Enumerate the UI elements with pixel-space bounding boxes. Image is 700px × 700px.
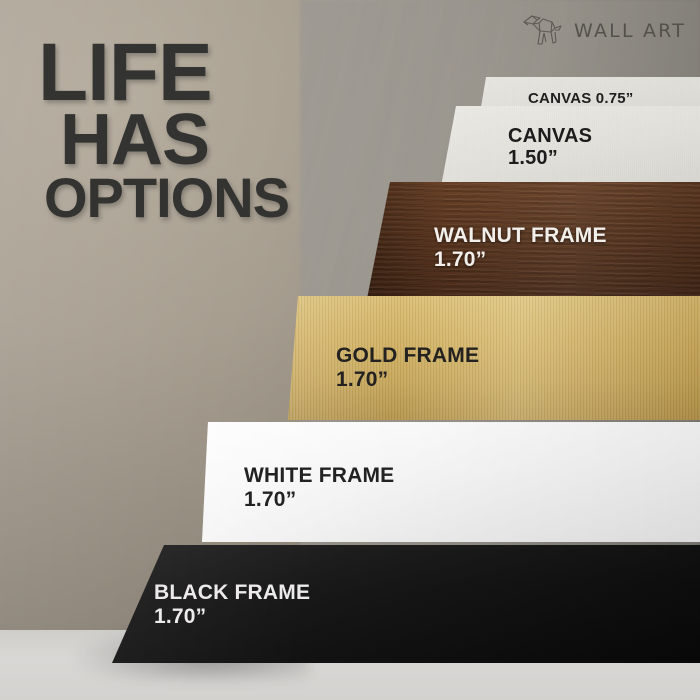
option-white-frame[interactable]: WHITE FRAME 1.70”	[202, 422, 700, 542]
product-options-scene: LIFE HAS OPTIONS WALL ART CANVAS 0.75”	[0, 0, 700, 700]
option-black-frame[interactable]: BLACK FRAME 1.70”	[112, 545, 700, 663]
headline-line-3: OPTIONS	[44, 172, 368, 224]
option-walnut-frame[interactable]: WALNUT FRAME 1.70”	[366, 182, 700, 304]
option-label-walnut-frame: WALNUT FRAME 1.70”	[434, 224, 607, 271]
option-label-black-frame: BLACK FRAME 1.70”	[154, 581, 310, 628]
option-label-gold-frame: GOLD FRAME 1.70”	[336, 344, 479, 391]
option-label-canvas-075: CANVAS 0.75”	[528, 91, 634, 108]
option-label-white-frame: WHITE FRAME 1.70”	[244, 464, 394, 511]
option-canvas-150[interactable]: CANVAS 1.50”	[440, 106, 700, 192]
headline-line-2: HAS	[60, 109, 368, 172]
option-gold-frame[interactable]: GOLD FRAME 1.70”	[288, 296, 700, 420]
page-title: LIFE HAS OPTIONS	[38, 38, 368, 223]
brand-name: WALL ART	[574, 20, 686, 42]
brand-logo: WALL ART	[520, 14, 686, 48]
headline-line-1: LIFE	[38, 38, 368, 109]
origami-goat-icon	[520, 14, 566, 48]
option-label-canvas-150: CANVAS 1.50”	[508, 125, 592, 170]
